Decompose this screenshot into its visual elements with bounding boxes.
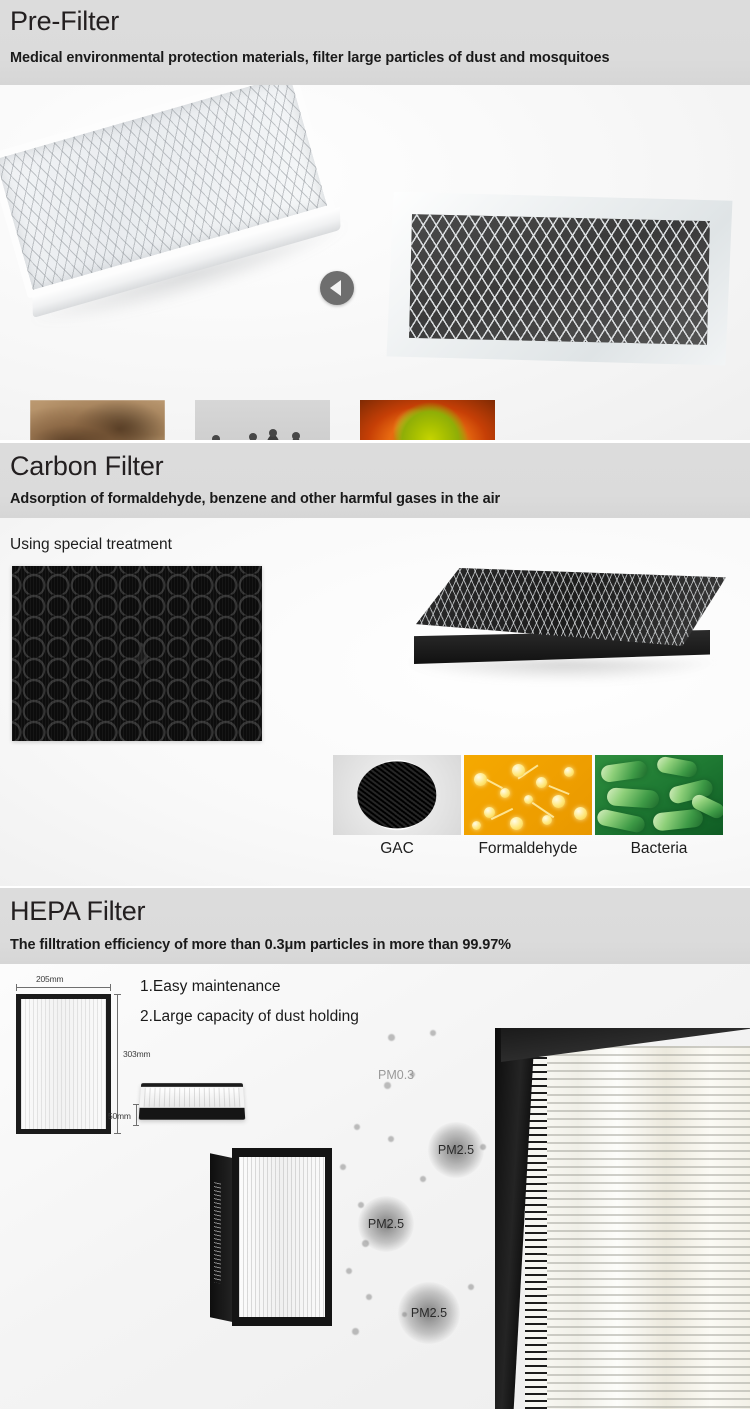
filter-mesh <box>409 210 710 349</box>
smog-pedestrians-image <box>195 400 330 440</box>
thumbnail-formaldehyde[interactable]: Formaldehyde <box>464 755 592 835</box>
formaldehyde-molecules-image <box>464 755 592 835</box>
pre-filter-subtitle: Medical environmental protection materia… <box>10 50 609 66</box>
height-dimension-label: 303mm <box>123 1049 150 1059</box>
depth-dimension-line <box>133 1104 139 1126</box>
feature-item: 2.Large capacity of dust holding <box>140 1008 359 1026</box>
particle-bubble-pm25: PM2.5 <box>398 1282 460 1344</box>
thumbnail-label: Formaldehyde <box>456 840 600 858</box>
carbon-filter-title: Carbon Filter <box>10 451 163 482</box>
thumbnail-label: Bacteria <box>587 840 731 858</box>
carbon-panel-angled <box>398 568 738 698</box>
pleated-media <box>529 1046 750 1409</box>
carbon-filter-body: Using special treatment GAC <box>0 518 750 886</box>
texture-overlay <box>12 566 262 741</box>
carbon-filter-subtitle: Adsorption of formaldehyde, benzene and … <box>10 491 500 507</box>
particle-bubble-pm25: PM2.5 <box>358 1196 414 1252</box>
dust-cloud-image <box>30 400 165 440</box>
hepa-filter-title: HEPA Filter <box>10 896 145 927</box>
carbon-honeycomb-macro <box>12 566 262 741</box>
depth-dimension-label: 50mm <box>108 1111 131 1121</box>
particle-label-pm03: PM0.3 <box>378 1068 414 1082</box>
prefilter-framed-dark-mesh <box>383 188 736 371</box>
activated-carbon-granules-image <box>333 755 461 835</box>
thumbnail-dust[interactable]: Dust <box>30 400 165 440</box>
hepa-feature-list: 1.Easy maintenance 2.Large capacity of d… <box>140 978 359 1038</box>
flat-filter-body <box>139 1083 246 1120</box>
thumbnail-bacteria[interactable]: Bacteria <box>360 400 495 440</box>
thumbnail-smog[interactable]: Smong <box>195 400 330 440</box>
particle-label: PM2.5 <box>438 1143 474 1157</box>
panel-honeycomb-surface <box>416 568 726 646</box>
bacteria-microscope-image <box>360 400 495 440</box>
panel-shadow <box>408 660 718 682</box>
carbon-filter-header-band: Carbon Filter Adsorption of formaldehyde… <box>0 443 750 518</box>
thumbnail-bacteria-green[interactable]: Bacteria <box>595 755 723 835</box>
particle-label: PM2.5 <box>411 1306 447 1320</box>
particle-label: PM2.5 <box>368 1217 404 1231</box>
hepa-3d-panel <box>210 1148 332 1326</box>
hepa-pleats-macro <box>495 1028 750 1409</box>
hepa-filter-body: 205mm 303mm 1.Easy maintenance 2.Large c… <box>0 964 750 1409</box>
hepa-front-view <box>16 994 111 1134</box>
width-dimension-line <box>16 984 111 991</box>
carousel-prev-button[interactable] <box>320 271 354 305</box>
panel-front-face <box>232 1148 332 1326</box>
filter-detail-page: Pre-Filter Medical environmental protect… <box>0 0 750 1409</box>
hepa-filter-subtitle: The filltration efficiency of more than … <box>10 937 511 953</box>
pre-filter-title: Pre-Filter <box>10 6 119 37</box>
thumbnail-gac[interactable]: GAC <box>333 755 461 835</box>
pre-filter-body: Dust Smong Bacteria <box>0 85 750 440</box>
green-bacteria-rods-image <box>595 755 723 835</box>
hepa-filter-header-band: HEPA Filter The filltration efficiency o… <box>0 888 750 964</box>
particle-bubble-pm25: PM2.5 <box>428 1122 484 1178</box>
pre-filter-header-band: Pre-Filter Medical environmental protect… <box>0 0 750 85</box>
feature-item: 1.Easy maintenance <box>140 978 359 996</box>
width-dimension-label: 205mm <box>36 974 63 984</box>
carbon-filter-note: Using special treatment <box>10 536 172 554</box>
left-triangle-icon <box>330 280 341 296</box>
thumbnail-label: GAC <box>325 840 469 858</box>
